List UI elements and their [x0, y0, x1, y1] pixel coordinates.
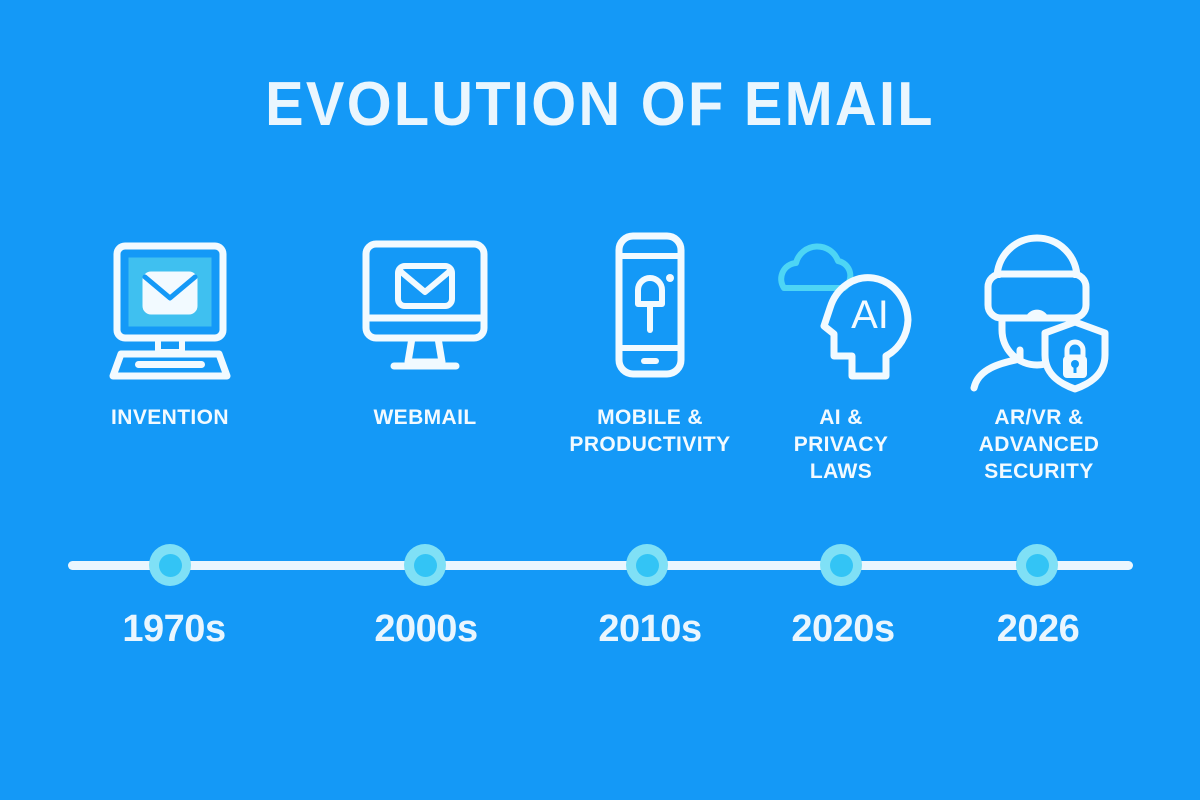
infographic-poster: EVOLUTION OF EMAIL INVENTION [0, 0, 1200, 800]
milestone-label: INVENTION [60, 405, 280, 432]
milestone-mobile: MOBILE & PRODUCTIVITY [540, 225, 760, 459]
timeline-date: 2026 [918, 608, 1158, 651]
ai-head-cloud-icon: AI [731, 225, 951, 385]
timeline-axis [68, 561, 1133, 570]
milestone-label: AI & PRIVACY LAWS [731, 405, 951, 486]
timeline-dot-2000s[interactable] [404, 544, 446, 586]
timeline-date: 1970s [54, 608, 294, 651]
milestone-arvr: AR/VR & ADVANCED SECURITY [929, 225, 1149, 486]
monitor-email-icon [315, 225, 535, 385]
milestone-label: MOBILE & PRODUCTIVITY [540, 405, 760, 459]
milestone-webmail: WEBMAIL [315, 225, 535, 432]
vr-headset-shield-lock-icon [929, 225, 1149, 385]
ai-icon-text: AI [851, 293, 889, 337]
timeline-dot-2026[interactable] [1016, 544, 1058, 586]
timeline-dot-2010s[interactable] [626, 544, 668, 586]
milestone-columns: INVENTION WEBMAIL [0, 225, 1200, 525]
milestone-label: AR/VR & ADVANCED SECURITY [929, 405, 1149, 486]
page-title: EVOLUTION OF EMAIL [42, 74, 1158, 136]
timeline-dot-2020s[interactable] [820, 544, 862, 586]
desktop-computer-email-icon [60, 225, 280, 385]
timeline-date: 2000s [306, 608, 546, 651]
milestone-invention: INVENTION [60, 225, 280, 432]
smartphone-mailbox-icon [540, 225, 760, 385]
milestone-label: WEBMAIL [315, 405, 535, 432]
timeline-dot-1970s[interactable] [149, 544, 191, 586]
milestone-ai: AI AI & PRIVACY LAWS [731, 225, 951, 486]
